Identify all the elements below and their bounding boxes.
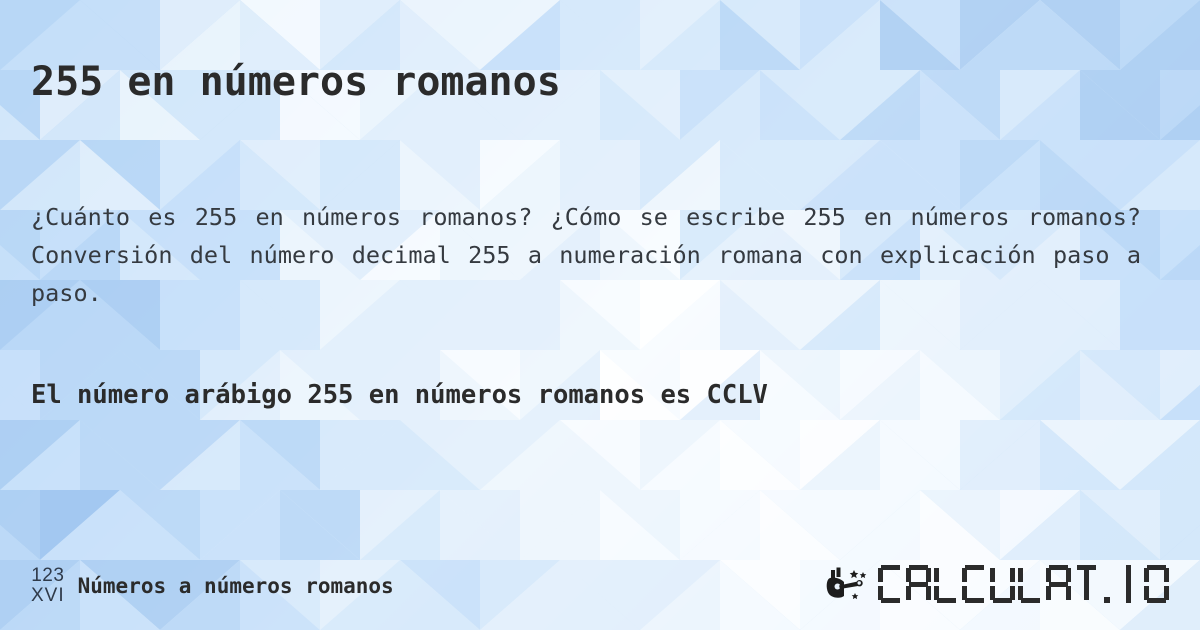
footer-section-brand: 123 XVI Números a números romanos (31, 566, 394, 606)
card-footer: 123 XVI Números a números romanos (0, 540, 1200, 630)
footer-section-label: Números a números romanos (78, 574, 394, 598)
brand-letter-u-1 (990, 565, 1015, 603)
brand-letter-c-1 (878, 565, 903, 603)
brand-letter-l-2 (1018, 565, 1043, 603)
magic-wand-hand-icon (824, 564, 872, 604)
brand-letter-a-1 (906, 565, 931, 603)
logo-roman-text: XVI (31, 586, 65, 606)
og-image-card: 255 en números romanos ¿Cuánto es 255 en… (0, 0, 1200, 630)
intro-paragraph: ¿Cuánto es 255 en números romanos? ¿Cómo… (31, 198, 1141, 312)
card-content: 255 en números romanos ¿Cuánto es 255 en… (0, 0, 1200, 630)
brand-letter-o-1 (1144, 565, 1169, 603)
answer-statement: El número arábigo 255 en números romanos… (31, 374, 1121, 416)
brand-letter-c-2 (962, 565, 987, 603)
brand-letter-l-1 (934, 565, 959, 603)
brand-letter-a-2 (1046, 565, 1071, 603)
brand-wordmark (878, 565, 1169, 603)
logo-arabic-text: 123 (31, 566, 64, 586)
page-title: 255 en números romanos (31, 60, 561, 104)
brand-letter-t-1 (1074, 565, 1099, 603)
brand-letter-i-1 (1116, 565, 1141, 603)
numbers-to-roman-logo-icon: 123 XVI (31, 566, 65, 606)
site-logo (824, 564, 1169, 604)
brand-letter-dot (1102, 565, 1113, 603)
